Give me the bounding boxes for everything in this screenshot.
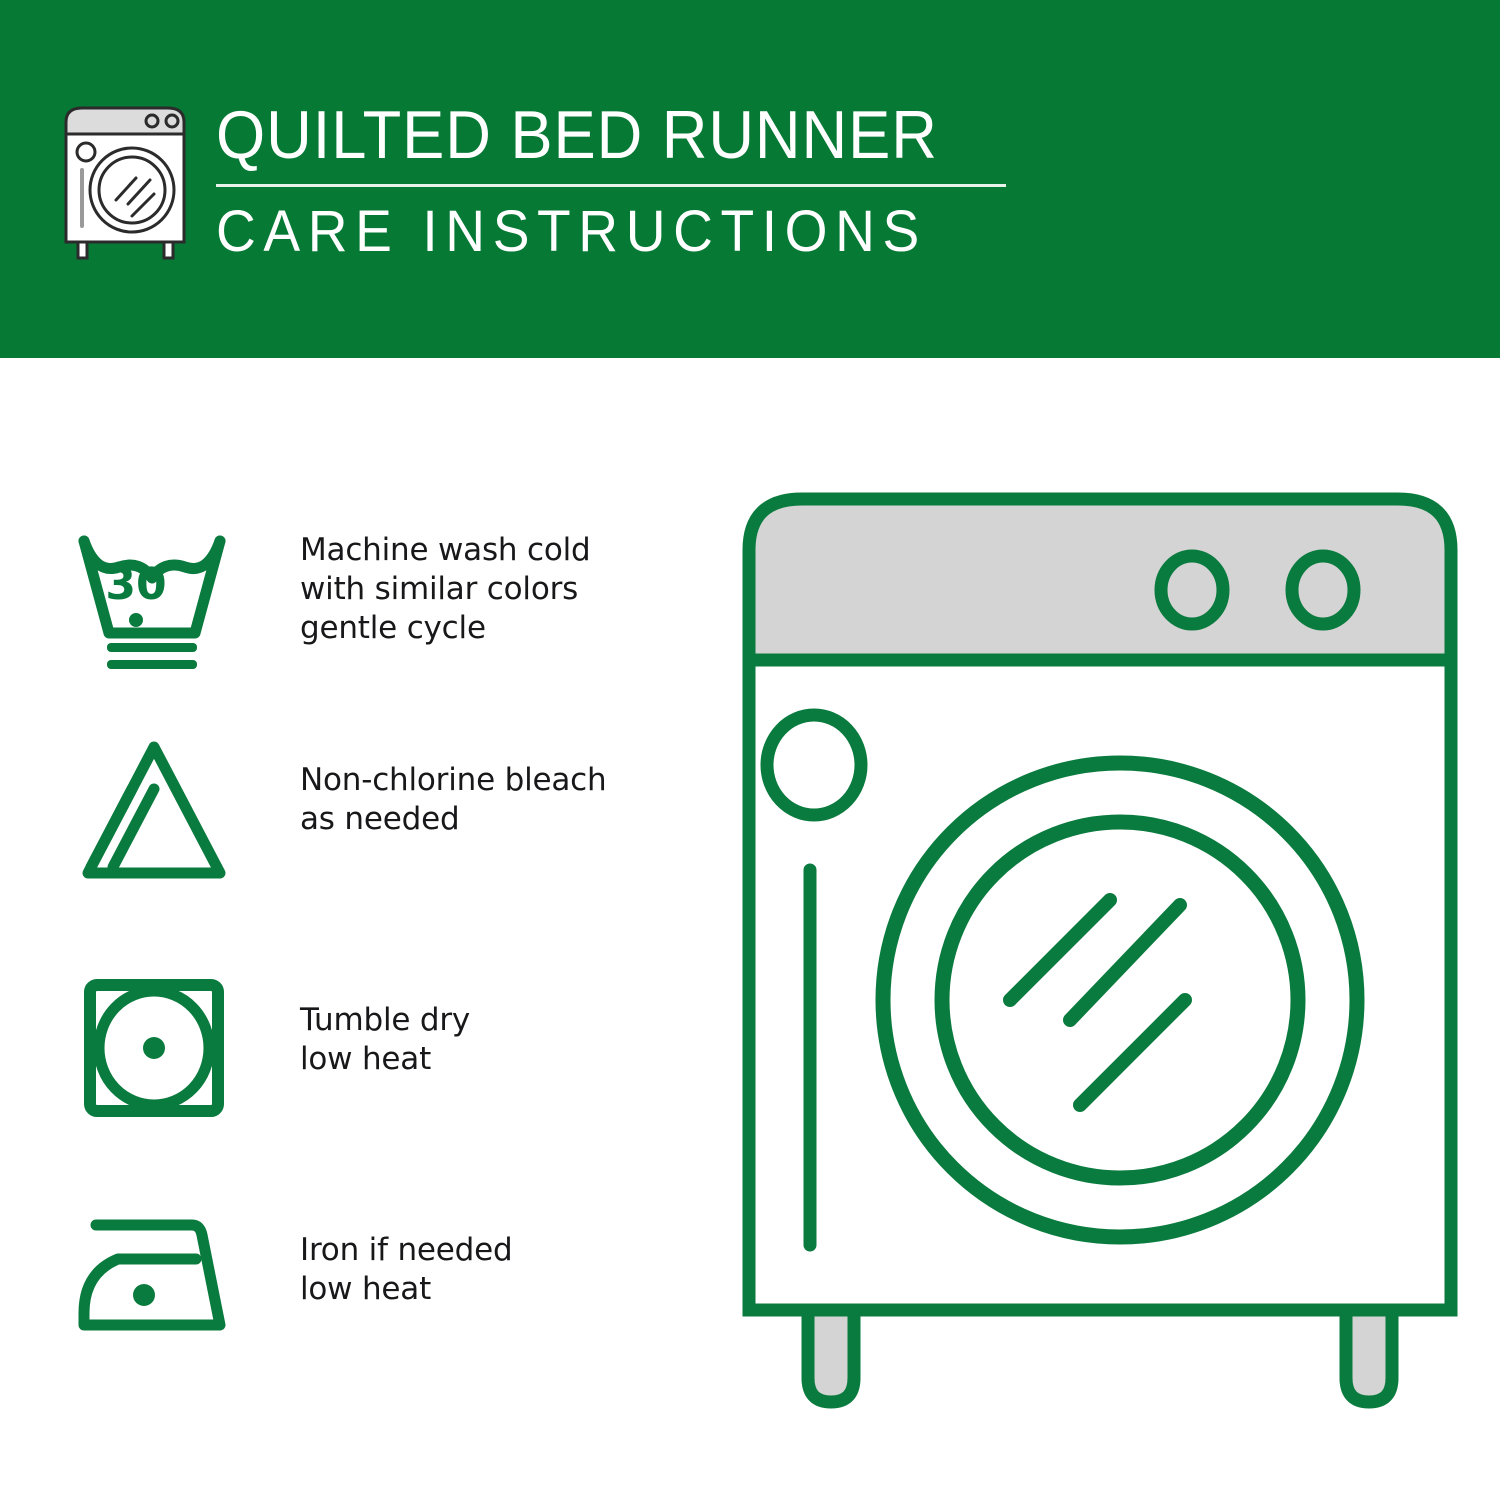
header-band: QUILTED BED RUNNER CARE INSTRUCTIONS	[0, 0, 1500, 358]
page-subtitle: CARE INSTRUCTIONS	[216, 201, 976, 263]
care-symbol-label: Tumble dry low heat	[300, 973, 470, 1079]
title-divider	[216, 184, 1006, 187]
wash-temperature-value: 30	[105, 559, 166, 610]
care-symbol-row-wash: 30 Machine wash cold with similar colors…	[74, 523, 591, 673]
care-symbol-row-dry: Tumble dry low heat	[74, 973, 470, 1123]
care-symbol-row-iron: Iron if needed low heat	[74, 1203, 512, 1353]
care-symbol-label: Machine wash cold with similar colors ge…	[300, 523, 591, 648]
wash-tub-30-gentle-icon: 30	[74, 523, 234, 673]
care-symbol-label: Non-chlorine bleach as needed	[300, 733, 606, 839]
leg-left	[808, 1310, 854, 1402]
header-text-block: QUILTED BED RUNNER CARE INSTRUCTIONS	[216, 98, 1016, 263]
washing-machine-icon	[60, 104, 192, 264]
leg-right	[1346, 1310, 1392, 1402]
page-title: QUILTED BED RUNNER	[216, 98, 960, 172]
tumble-dry-low-heat-icon	[74, 973, 234, 1123]
care-symbol-list: 30 Machine wash cold with similar colors…	[0, 358, 700, 1500]
non-chlorine-bleach-triangle-icon	[74, 733, 234, 883]
care-symbol-label: Iron if needed low heat	[300, 1203, 512, 1309]
control-panel	[749, 499, 1451, 660]
care-symbol-row-bleach: Non-chlorine bleach as needed	[74, 733, 606, 883]
front-load-washing-machine-illustration	[730, 480, 1470, 1430]
iron-low-heat-icon	[74, 1203, 234, 1353]
care-instructions-infographic: QUILTED BED RUNNER CARE INSTRUCTIONS 30	[0, 0, 1500, 1500]
